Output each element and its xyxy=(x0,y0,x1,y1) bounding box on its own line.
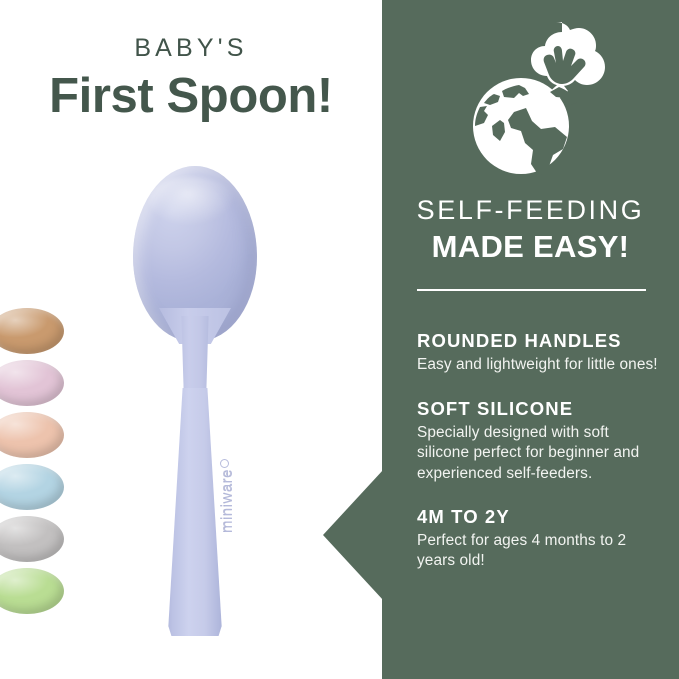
brand-emboss-text: miniware xyxy=(219,469,236,533)
globe-sprout-icon xyxy=(466,22,614,182)
color-swatch-spoon xyxy=(0,360,64,406)
color-swatch-bowl xyxy=(0,360,64,406)
hero-spoon-image: miniware xyxy=(131,166,259,636)
feature-item: 4M TO 2Y Perfect for ages 4 months to 2 … xyxy=(417,506,661,572)
color-swatch-bowl xyxy=(0,464,64,510)
feature-title: 4M TO 2Y xyxy=(417,506,661,527)
brand-emboss-dot-icon xyxy=(220,459,229,468)
page-title: First Spoon! xyxy=(0,71,382,122)
feature-body: Perfect for ages 4 months to 2 years old… xyxy=(417,531,661,572)
left-product-pane: BABY'S First Spoon! miniware xyxy=(0,0,382,679)
headline-block: BABY'S First Spoon! xyxy=(0,36,382,122)
spoon-bowl-highlight xyxy=(149,177,235,225)
color-swatch-spoon xyxy=(0,516,64,562)
feature-title: SOFT SILICONE xyxy=(417,398,661,419)
color-swatch-bowl xyxy=(0,516,64,562)
feature-list: ROUNDED HANDLES Easy and lightweight for… xyxy=(417,330,661,594)
panel-divider xyxy=(417,289,646,291)
color-swatch-bowl xyxy=(0,568,64,614)
panel-heading: SELF-FEEDING MADE EASY! xyxy=(382,196,679,264)
color-swatch-spoon xyxy=(0,308,64,354)
product-infographic: BABY'S First Spoon! miniware xyxy=(0,0,679,679)
color-swatch-bowl xyxy=(0,308,64,354)
spoon-handle xyxy=(164,388,226,636)
feature-body: Easy and lightweight for little ones! xyxy=(417,355,661,375)
brand-emboss: miniware xyxy=(219,436,243,556)
color-swatch-spoon xyxy=(0,412,64,458)
panel-heading-line2: MADE EASY! xyxy=(382,230,679,264)
panel-heading-line1: SELF-FEEDING xyxy=(382,196,679,226)
color-swatch-bowl xyxy=(0,412,64,458)
kicker-text: BABY'S xyxy=(0,36,382,61)
color-swatch-spoon xyxy=(0,568,64,614)
feature-item: SOFT SILICONE Specially designed with so… xyxy=(417,398,661,484)
feature-item: ROUNDED HANDLES Easy and lightweight for… xyxy=(417,330,661,376)
feature-body: Specially designed with soft silicone pe… xyxy=(417,423,661,484)
feature-title: ROUNDED HANDLES xyxy=(417,330,661,351)
color-swatch-spoon xyxy=(0,464,64,510)
